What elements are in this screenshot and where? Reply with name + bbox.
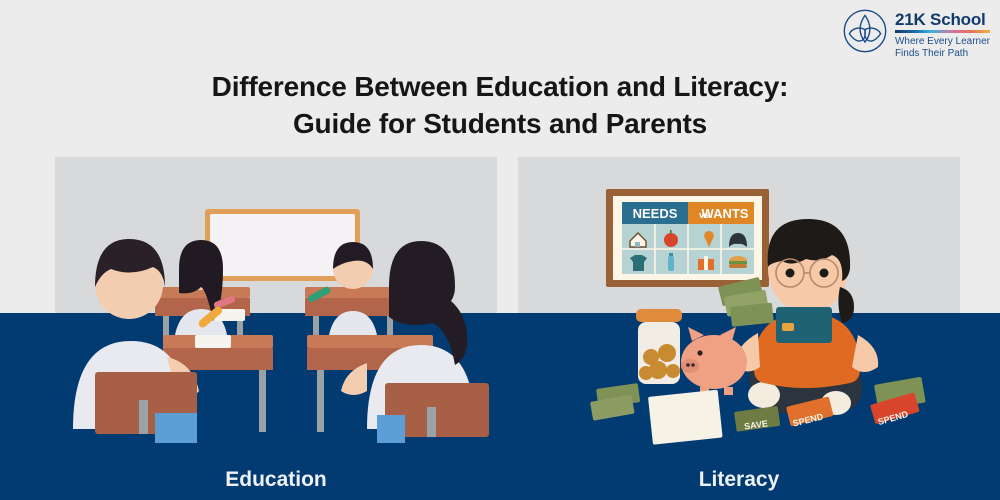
brand-tagline: Where Every Learner Finds Their Path	[895, 36, 990, 60]
brand-text-block: 21K School Where Every Learner Finds The…	[895, 8, 990, 60]
floor-card-save: SAVE	[734, 406, 780, 432]
svg-text:NEEDS: NEEDS	[633, 206, 678, 221]
svg-text:WANTS: WANTS	[702, 206, 749, 221]
svg-text:SAVE: SAVE	[743, 418, 768, 431]
girl-eye-left	[786, 269, 795, 278]
brand-gradient-rule	[895, 30, 990, 33]
page-title-line1: Difference Between Education and Literac…	[212, 71, 789, 102]
caption-literacy: Literacy	[518, 468, 960, 492]
caption-education: Education	[55, 468, 497, 492]
page-title-line2: Guide for Students and Parents	[293, 108, 707, 139]
girl-eye-right	[820, 269, 829, 278]
piggy-bank	[681, 327, 747, 395]
brand-tagline-line2: Finds Their Path	[895, 48, 968, 59]
girl-hand-right	[852, 335, 878, 372]
brand-logo[interactable]: 21K School Where Every Learner Finds The…	[842, 8, 990, 60]
panel-education	[55, 157, 497, 470]
panel-literacy: NEEDS vs WANTS	[518, 157, 960, 470]
financial-literacy-illustration: NEEDS vs WANTS	[518, 157, 960, 470]
coin-jar	[636, 309, 682, 384]
paper-sheet	[648, 390, 723, 445]
brand-tagline-line1: Where Every Learner	[895, 36, 990, 47]
girl-ponytail	[838, 287, 854, 323]
page-title: Difference Between Education and Literac…	[0, 68, 1000, 142]
brand-name: 21K School	[895, 11, 990, 28]
classroom-illustration	[55, 157, 497, 470]
girl-sock-left	[748, 382, 780, 408]
payment-card-chip	[782, 323, 794, 331]
burger-icon	[729, 256, 747, 268]
needs-vs-wants-poster: NEEDS vs WANTS	[606, 189, 769, 287]
cash-bill-stack	[590, 383, 640, 421]
lotus-in-circle-logo-icon	[842, 8, 888, 54]
